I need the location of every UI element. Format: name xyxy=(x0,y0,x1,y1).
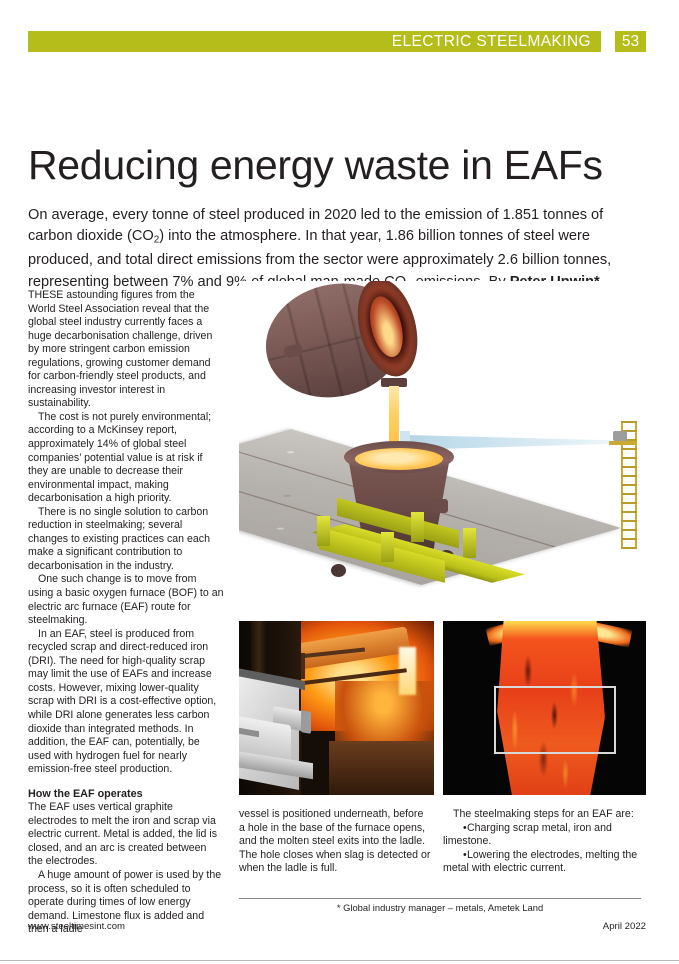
footer-divider xyxy=(0,960,679,961)
magazine-page: ELECTRIC STEELMAKING 53 Reducing energy … xyxy=(0,0,679,964)
sensor-head-graphic xyxy=(613,431,627,441)
car-post xyxy=(317,516,330,546)
sensor-platform xyxy=(609,441,635,445)
section-title: ELECTRIC STEELMAKING xyxy=(392,33,591,51)
paragraph: There is no single solution to carbon re… xyxy=(28,506,224,574)
paragraph: In an EAF, steel is produced from recycl… xyxy=(28,628,224,777)
photo-thermal-stream xyxy=(443,621,646,795)
list-item-label: Charging scrap metal, iron and limestone… xyxy=(443,822,612,848)
list-item: •Lowering the electrodes, melting the me… xyxy=(443,849,641,876)
subheading: How the EAF operates xyxy=(28,788,224,802)
list-item-label: Lowering the electrodes, melting the met… xyxy=(443,849,637,875)
list-item: •Charging scrap metal, iron and limeston… xyxy=(443,822,641,849)
paragraph: The cost is not purely environmental; ac… xyxy=(28,411,224,506)
hero-illustration xyxy=(239,281,646,611)
converter-vessel-graphic xyxy=(254,281,429,412)
car-post xyxy=(411,512,424,542)
page-number: 53 xyxy=(615,31,646,52)
camera-lens-front xyxy=(301,710,311,734)
car-post xyxy=(381,532,394,562)
paragraph: One such change is to move from using a … xyxy=(28,573,224,627)
photo-furnace-camera xyxy=(239,621,434,795)
body-column-2: vessel is positioned underneath, before … xyxy=(239,808,431,876)
bullet-icon: • xyxy=(453,849,467,863)
furnace-rail-post xyxy=(301,653,305,679)
bullet-icon: • xyxy=(453,822,467,836)
vessel-mouth-glow xyxy=(364,293,408,360)
car-wheel xyxy=(331,564,346,577)
paragraph: vessel is positioned underneath, before … xyxy=(239,808,431,876)
paragraph: The EAF uses vertical graphite electrode… xyxy=(28,801,224,869)
transfer-car-graphic xyxy=(311,506,491,584)
ladle-melt-surface xyxy=(355,448,443,470)
furnace-floor xyxy=(329,741,434,795)
body-column-3: The steelmaking steps for an EAF are: •C… xyxy=(443,808,641,876)
paragraph: THESE astounding figures from the World … xyxy=(28,289,224,411)
paragraph: The steelmaking steps for an EAF are: xyxy=(443,808,641,822)
footer-website: www.steeltimesint.com xyxy=(28,921,125,932)
footer-issue-date: April 2022 xyxy=(603,921,646,932)
footnote: * Global industry manager – metals, Amet… xyxy=(239,902,641,914)
page-title: Reducing energy waste in EAFs xyxy=(28,142,628,188)
footnote-divider xyxy=(239,898,641,899)
running-head-bar: ELECTRIC STEELMAKING xyxy=(28,31,601,52)
region-of-interest-box xyxy=(494,686,616,754)
car-post xyxy=(463,528,476,558)
body-column-1: THESE astounding figures from the World … xyxy=(28,289,224,937)
